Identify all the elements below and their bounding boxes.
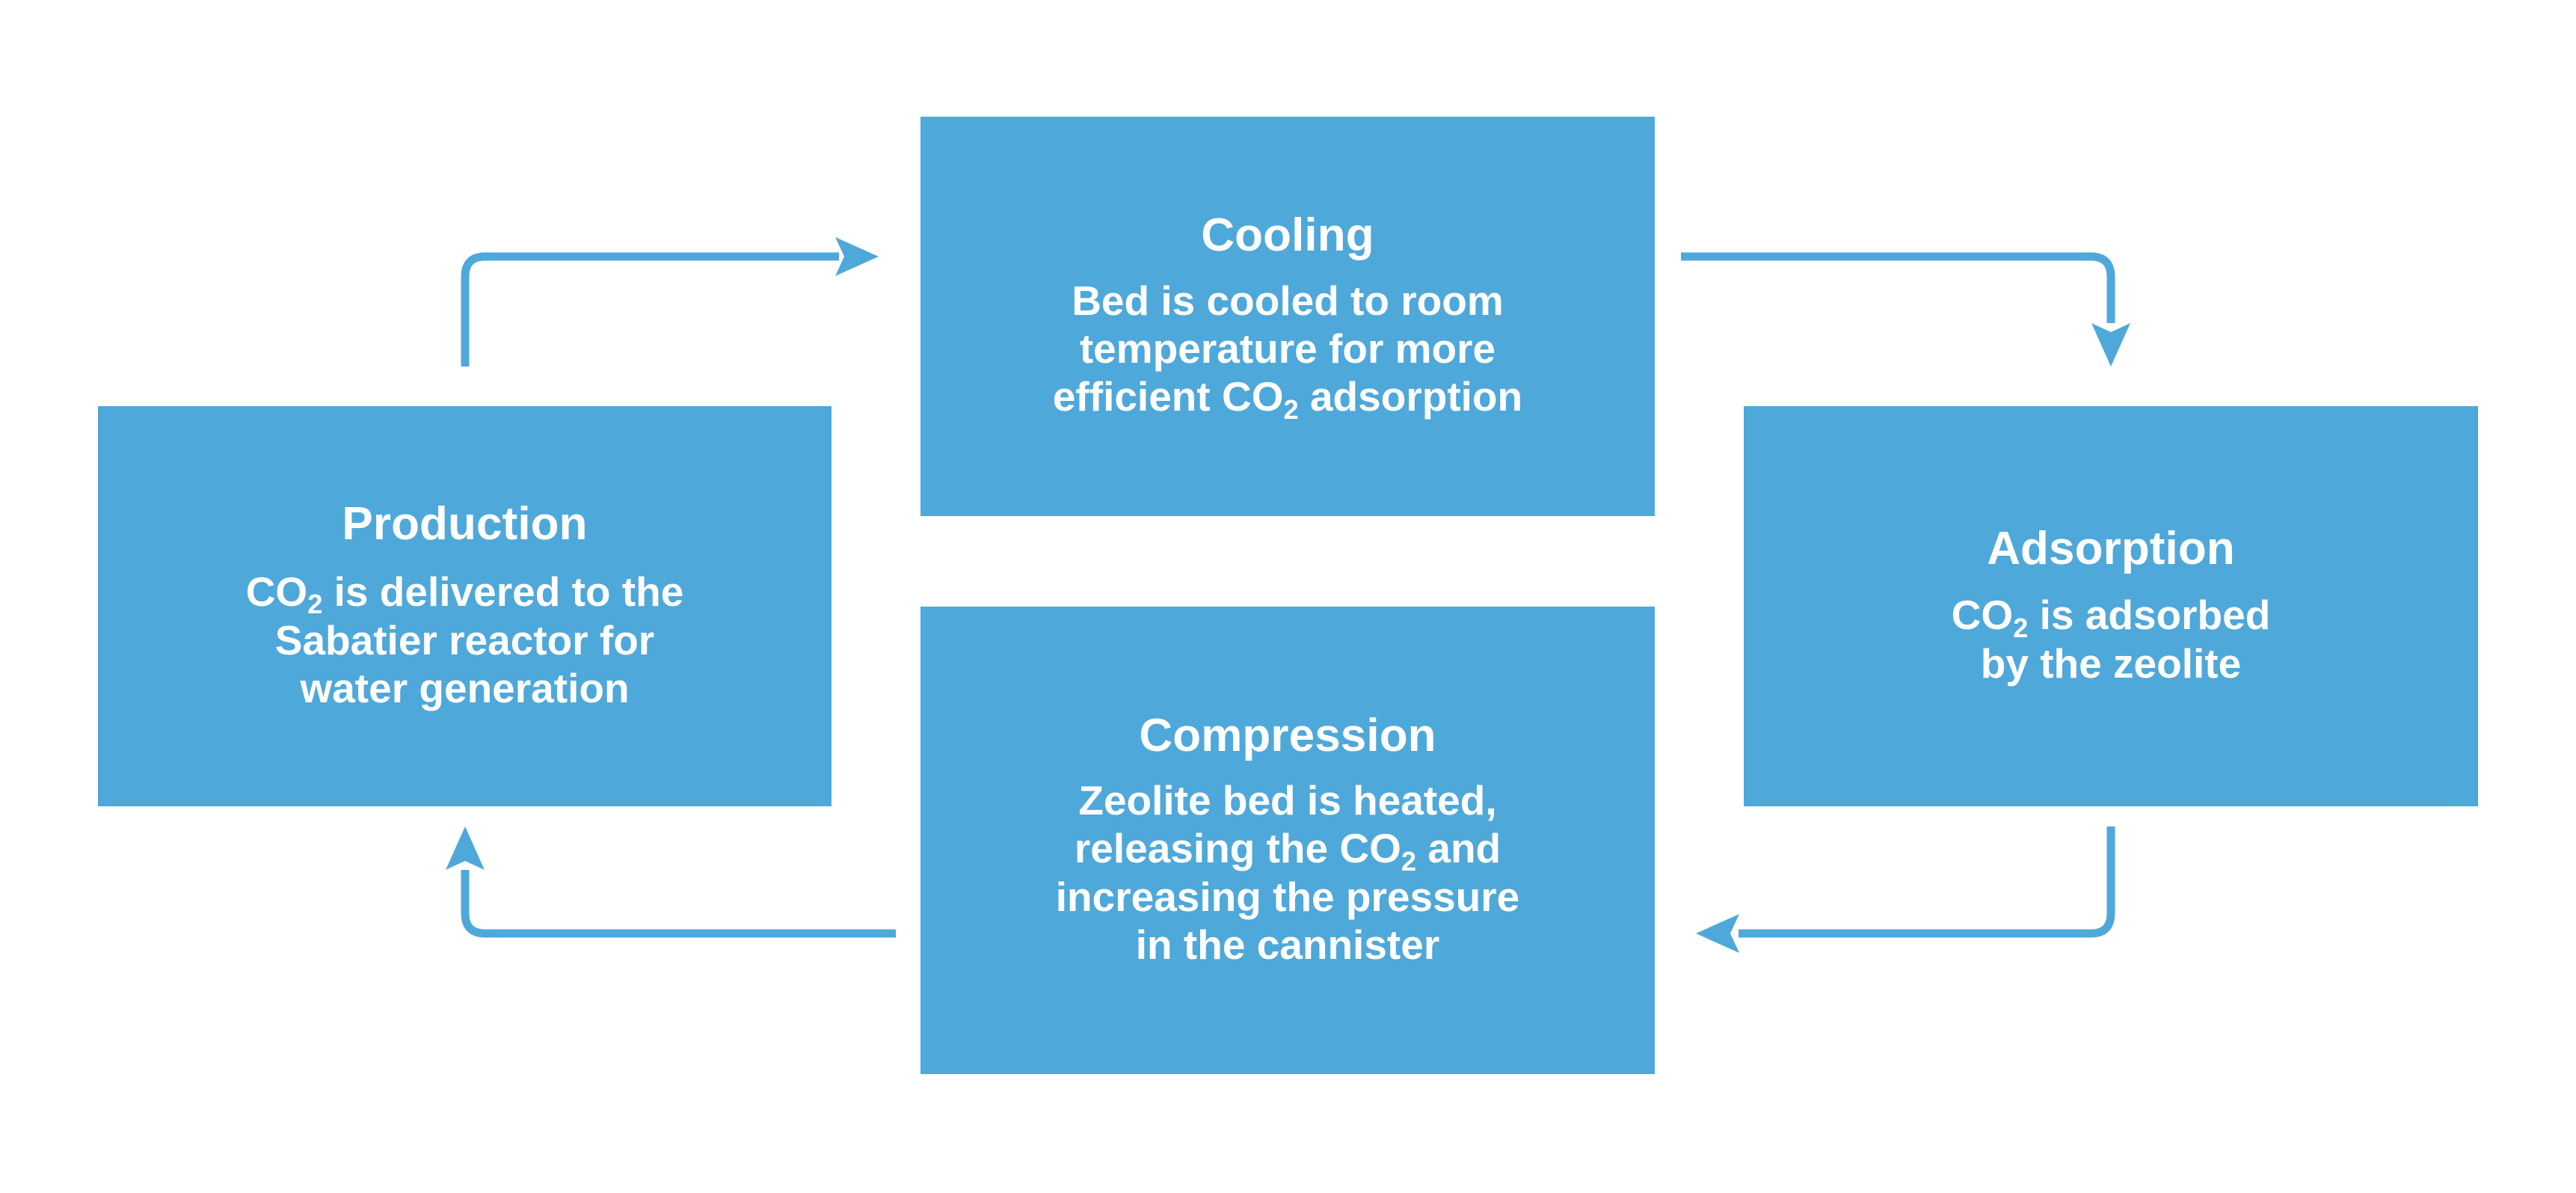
node-production-desc-post: is delivered to the Sabatier reactor for…: [275, 568, 684, 711]
connector-compression-to-production: [446, 826, 896, 933]
node-production-desc-subscript: 2: [307, 589, 322, 619]
node-production[interactable]: Production CO2 is delivered to the Sabat…: [98, 406, 831, 806]
node-adsorption-desc-pre: CO: [1952, 592, 2014, 638]
connector-adsorption-to-compression: [1696, 826, 2111, 953]
node-cooling-description: Bed is cooled to room temperature for mo…: [1053, 277, 1522, 421]
node-cooling-desc-subscript: 2: [1284, 394, 1299, 425]
flow-diagram: Production CO2 is delivered to the Sabat…: [0, 0, 2576, 1193]
node-compression-description: Zeolite bed is heated, releasing the CO2…: [1056, 776, 1520, 969]
node-compression-desc-subscript: 2: [1401, 846, 1416, 877]
node-cooling-desc-post: adsorption: [1299, 373, 1522, 420]
node-cooling-title: Cooling: [1201, 212, 1374, 260]
connector-production-to-cooling: [465, 237, 879, 367]
node-adsorption[interactable]: Adsorption CO2 is adsorbed by the zeolit…: [1744, 406, 2478, 806]
node-production-description: CO2 is delivered to the Sabatier reactor…: [246, 568, 684, 712]
connector-cooling-to-adsorption: [1681, 257, 2130, 367]
node-compression-title: Compression: [1139, 712, 1436, 760]
node-cooling[interactable]: Cooling Bed is cooled to room temperatur…: [920, 117, 1655, 516]
node-compression[interactable]: Compression Zeolite bed is heated, relea…: [920, 607, 1655, 1074]
node-adsorption-description: CO2 is adsorbed by the zeolite: [1952, 591, 2271, 687]
node-adsorption-desc-subscript: 2: [2013, 613, 2028, 643]
node-adsorption-title: Adsorption: [1987, 525, 2235, 573]
node-production-desc-pre: CO: [246, 568, 308, 615]
node-production-title: Production: [342, 500, 587, 548]
